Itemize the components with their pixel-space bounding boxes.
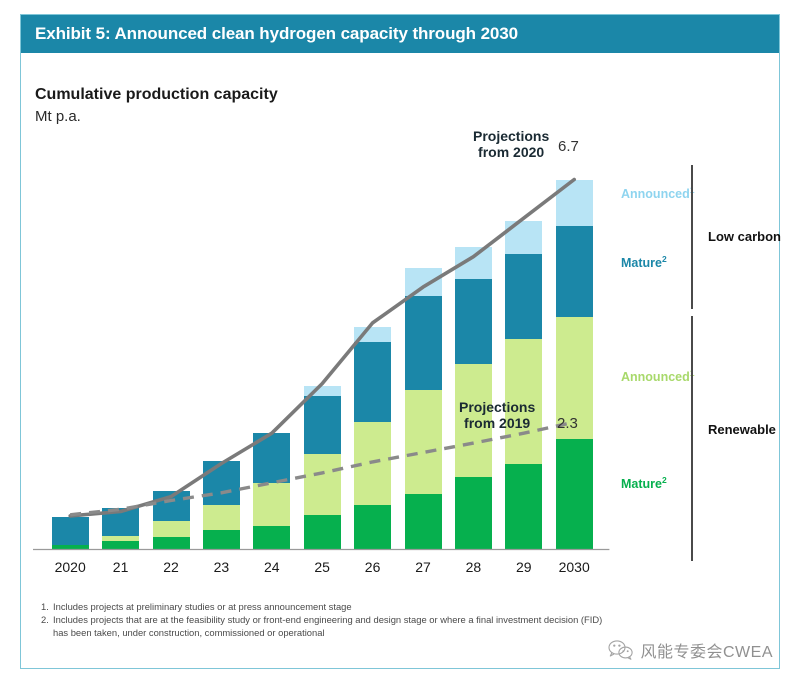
bar-segment <box>304 515 341 549</box>
bar-segment <box>253 483 290 526</box>
bar-segment <box>505 221 542 254</box>
bar-segment <box>52 545 89 549</box>
footnote-item: 1. Includes projects at preliminary stud… <box>35 601 615 613</box>
bar-segment <box>304 386 341 396</box>
bar-segment <box>52 517 89 545</box>
legend-renewable-mature-footnote-ref: 2 <box>662 475 667 485</box>
legend-low-carbon-mature-footnote-ref: 2 <box>662 254 667 264</box>
legend-low-carbon-mature-text: Mature <box>621 256 662 270</box>
bar-segment <box>203 461 240 505</box>
bar-segment <box>556 226 593 317</box>
annotation-projections-2019: Projections from 2019 <box>459 399 535 431</box>
bar-segment <box>354 505 391 549</box>
bar-segment <box>153 521 190 536</box>
bar-segment <box>102 508 139 537</box>
bar-segment <box>354 342 391 422</box>
bar-group <box>203 163 240 549</box>
bar-segment <box>102 536 139 540</box>
bracket-rule-low-carbon <box>691 165 693 309</box>
bar-segment <box>405 296 442 390</box>
bar-segment <box>253 433 290 483</box>
annotation-projections-2019-line2: from 2019 <box>459 415 535 431</box>
bar-group <box>102 163 139 549</box>
bar-segment <box>455 247 492 279</box>
bar-segment <box>203 505 240 530</box>
bar-group <box>455 163 492 549</box>
wechat-icon <box>608 639 634 661</box>
watermark: 风能专委会CWEA <box>608 638 773 662</box>
bar-segment <box>304 396 341 454</box>
legend-low-carbon-announced-text: Announced <box>621 187 690 201</box>
annotation-projections-2020-line1: Projections <box>473 128 549 144</box>
bar-group <box>505 163 542 549</box>
bracket-label-low-carbon: Low carbon <box>708 229 781 244</box>
value-label-6-7: 6.7 <box>558 138 579 155</box>
bar-segment <box>455 279 492 364</box>
x-axis-tick-label: 2030 <box>544 559 604 575</box>
bar-segment <box>556 439 593 549</box>
bracket-rule-renewable <box>691 316 693 561</box>
legend-renewable-announced-text: Announced <box>621 370 690 384</box>
footnote-number: 1. <box>35 601 53 613</box>
bar-segment <box>153 491 190 521</box>
legend-low-carbon-announced: Announced1 <box>621 185 694 201</box>
bar-group <box>405 163 442 549</box>
footnotes-block: 1. Includes projects at preliminary stud… <box>35 601 615 640</box>
footnote-text: Includes projects that are at the feasib… <box>53 614 615 639</box>
bar-group <box>253 163 290 549</box>
annotation-projections-2020: Projections from 2020 <box>473 128 549 160</box>
annotation-projections-2020-line2: from 2020 <box>473 144 549 160</box>
bar-segment <box>102 541 139 549</box>
legend-renewable-mature-text: Mature <box>621 477 662 491</box>
watermark-text: 风能专委会CWEA <box>640 638 773 662</box>
value-label-2-3: 2.3 <box>557 415 578 432</box>
bar-segment <box>405 268 442 297</box>
bar-segment <box>354 327 391 342</box>
bar-segment <box>405 494 442 549</box>
bar-group <box>52 163 89 549</box>
bar-group <box>354 163 391 549</box>
legend-renewable-announced: Announced1 <box>621 368 694 384</box>
footnote-text: Includes projects at preliminary studies… <box>53 601 615 613</box>
bar-segment <box>556 180 593 227</box>
bar-segment <box>405 390 442 494</box>
bar-segment <box>253 526 290 549</box>
bar-segment <box>354 422 391 505</box>
bar-group <box>153 163 190 549</box>
bracket-label-renewable: Renewable <box>708 422 776 437</box>
footnote-number: 2. <box>35 614 53 639</box>
bar-segment <box>505 254 542 339</box>
exhibit-frame: Exhibit 5: Announced clean hydrogen capa… <box>20 14 780 669</box>
bar-group <box>304 163 341 549</box>
footnote-item: 2. Includes projects that are at the fea… <box>35 614 615 639</box>
bar-segment <box>153 537 190 549</box>
bar-segment <box>505 464 542 549</box>
bar-segment <box>304 454 341 515</box>
annotation-projections-2019-line1: Projections <box>459 399 535 415</box>
bar-group <box>556 163 593 549</box>
legend-renewable-mature: Mature2 <box>621 475 667 491</box>
legend-low-carbon-mature: Mature2 <box>621 254 667 270</box>
bar-segment <box>455 477 492 549</box>
bar-segment <box>203 530 240 549</box>
